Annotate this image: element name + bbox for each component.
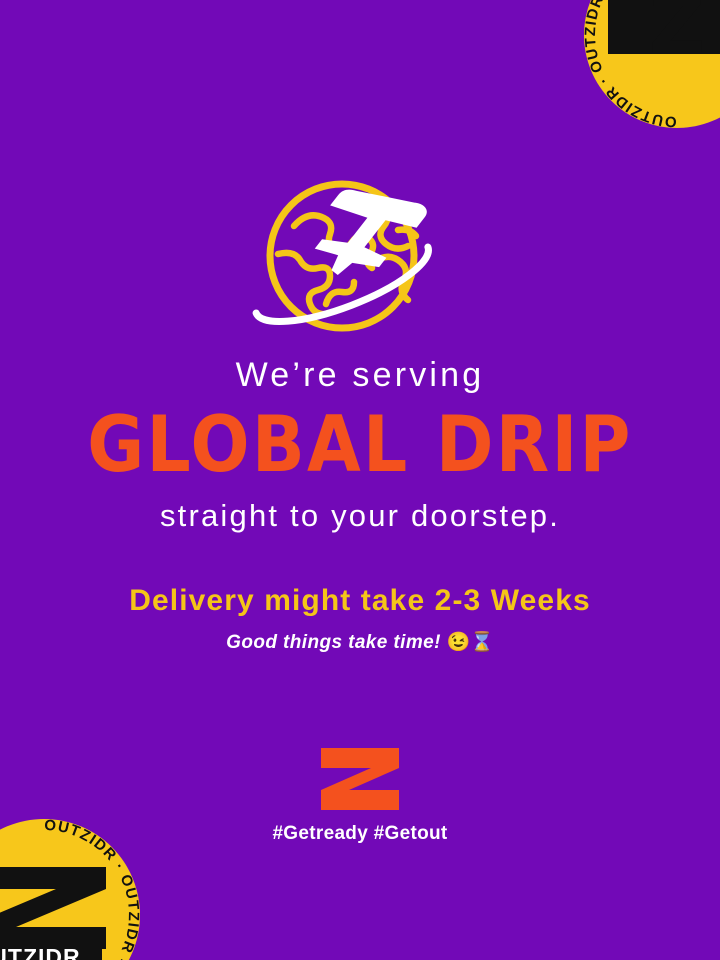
subheadline-text: straight to your doorstep.	[0, 500, 720, 531]
delivery-notice-text: Delivery might take 2-3 Weeks	[0, 586, 720, 616]
copy-block: We’re serving GLOBAL DRIP straight to yo…	[0, 358, 720, 652]
z-logo-icon	[319, 748, 401, 810]
globe-plane-graphic	[230, 168, 490, 348]
hero-illustration	[0, 168, 720, 348]
badge-graphic: OUTZIDR · OUTZIDR · OUTZIDR · OUTZIDR · …	[582, 0, 720, 130]
headline-text: GLOBAL DRIP	[0, 406, 720, 484]
outzidr-badge-top-right: OUTZIDR · OUTZIDR · OUTZIDR · OUTZIDR · …	[582, 0, 720, 135]
badge-monogram: Z	[649, 0, 706, 71]
reassurance-line: Good things take time! 😉⌛	[0, 633, 720, 652]
reassurance-text: Good things take time!	[226, 632, 441, 653]
eyebrow-text: We’re serving	[0, 358, 720, 392]
badge-graphic: OUTZIDR · OUTZIDR · OUTZIDR · OUTZIDR · …	[0, 815, 144, 960]
poster-canvas: We’re serving GLOBAL DRIP straight to yo…	[0, 0, 720, 960]
badge-wordmark: OUTZIDR	[0, 944, 81, 960]
wink-hourglass-emoji: 😉⌛	[447, 632, 494, 653]
outzidr-badge-bottom-left: OUTZIDR · OUTZIDR · OUTZIDR · OUTZIDR · …	[0, 815, 144, 960]
